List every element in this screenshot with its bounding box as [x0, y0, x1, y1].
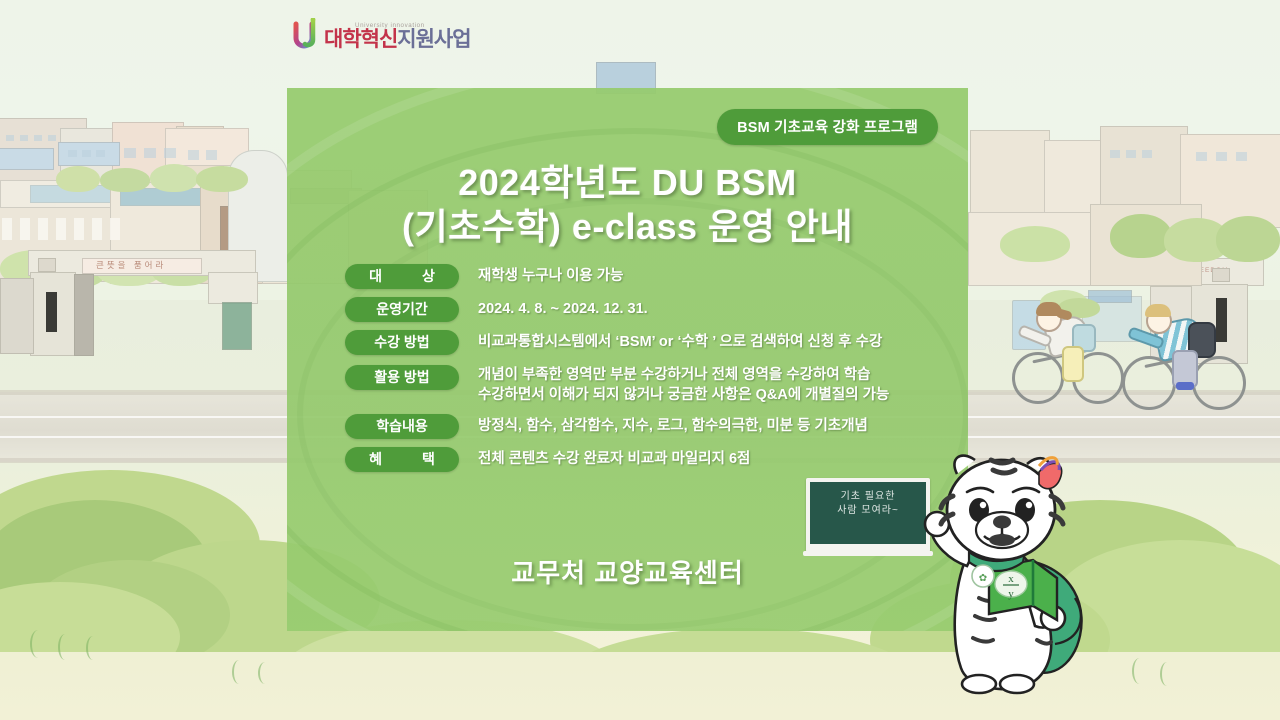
building-window [38, 218, 48, 240]
background-building [0, 148, 54, 170]
info-row-content: 학습내용 방정식, 함수, 삼각함수, 지수, 로그, 함수의극한, 미분 등 … [345, 414, 955, 439]
building-window [1196, 152, 1207, 161]
building-window [206, 150, 217, 160]
info-value-line: 수강하면서 이해가 되지 않거나 궁금한 사항은 Q&A에 개별질의 가능 [478, 385, 955, 405]
svg-text:✿: ✿ [979, 573, 987, 584]
bicycle-wheel [1192, 356, 1246, 410]
info-label-usage: 활용 방법 [345, 365, 459, 390]
cyclist-hair [1145, 304, 1171, 317]
building-window [1236, 152, 1247, 161]
building-window [92, 218, 102, 240]
cyclist-male [1122, 300, 1252, 412]
info-value-line: 전체 콘텐츠 수강 완료자 비교과 마일리지 6점 [478, 449, 955, 469]
building-window [68, 150, 77, 157]
building-window [188, 150, 199, 160]
building-window [110, 218, 120, 240]
building-window [144, 148, 156, 158]
tree [1000, 226, 1070, 262]
cyclist-legs [1062, 346, 1084, 382]
left-gate-text: 큰뜻을 품어라 [96, 259, 166, 271]
info-row-enrollment: 수강 방법 비교과통합시스템에서 ‘BSM’ or ‘수학 ’ 으로 검색하여 … [345, 330, 955, 355]
building-window [74, 218, 84, 240]
svg-text:y: y [1008, 588, 1014, 600]
info-value-line: 개념이 부족한 영역만 부분 수강하거나 전체 영역을 수강하여 학습 [478, 365, 955, 385]
gate-plaque [46, 292, 57, 332]
info-value-benefit: 전체 콘텐츠 수강 완료자 비교과 마일리지 6점 [478, 447, 955, 469]
gate-booth [222, 302, 252, 350]
grass-blade [30, 630, 46, 658]
info-label-content: 학습내용 [345, 414, 459, 439]
building-window [1142, 150, 1152, 158]
gate-pier [74, 274, 94, 356]
info-row-target: 대 상 재학생 누구나 이용 가능 [345, 264, 955, 289]
building-window [96, 150, 105, 157]
gate-lamp [38, 258, 56, 272]
svg-text:x: x [1008, 573, 1014, 585]
logo-korean-main: 대학혁신 [324, 28, 397, 51]
grass-blade [1160, 662, 1174, 686]
building-window [6, 135, 14, 141]
building-window [2, 218, 12, 240]
tree [196, 166, 248, 192]
tree [100, 168, 150, 192]
info-row-benefit: 혜 택 전체 콘텐츠 수강 완료자 비교과 마일리지 6점 [345, 447, 955, 472]
building-window [82, 150, 91, 157]
poster-info-table: 대 상 재학생 누구나 이용 가능 운영기간 2024. 4. 8. ~ 202… [345, 264, 955, 480]
info-label-target: 대 상 [345, 264, 459, 289]
logo-english-text: University innovation [355, 22, 425, 29]
tree [1216, 216, 1280, 262]
info-label-benefit: 혜 택 [345, 447, 459, 472]
building-window [124, 148, 136, 158]
gate-sidewall [208, 272, 258, 304]
building-window [20, 218, 30, 240]
grass-blade [258, 662, 272, 684]
info-value-enrollment: 비교과통합시스템에서 ‘BSM’ or ‘수학 ’ 으로 검색하여 신청 후 수… [478, 330, 955, 352]
cyclist-female [1010, 296, 1130, 406]
info-row-usage: 활용 방법 개념이 부족한 영역만 부분 수강하거나 전체 영역을 수강하여 학… [345, 363, 955, 405]
building-window [34, 135, 42, 141]
tree [56, 166, 100, 192]
tree [1110, 214, 1172, 258]
tree [150, 164, 198, 192]
poster-title-line2: (기초수학) e-class 운영 안내 [287, 198, 968, 250]
white-tiger-mascot: x y [905, 448, 1120, 700]
gate-lamp [1212, 268, 1230, 282]
building-window [164, 148, 176, 158]
poster-footer-organization: 교무처 교양교육센터 [287, 553, 968, 590]
building-window [20, 135, 28, 141]
info-value-usage: 개념이 부족한 영역만 부분 수강하거나 전체 영역을 수강하여 학습 수강하면… [478, 363, 955, 405]
building-window [1110, 150, 1120, 158]
building-window [1126, 150, 1136, 158]
info-value-period: 2024. 4. 8. ~ 2024. 12. 31. [478, 297, 955, 319]
info-value-line: 재학생 누구나 이용 가능 [478, 266, 955, 286]
uj-monogram-icon [293, 18, 319, 52]
info-value-target: 재학생 누구나 이용 가능 [478, 264, 955, 286]
poster-canvas: 큰뜻을 품어라 사랑 빛 자유 LOVE LIGHT FREEDOM [0, 0, 1280, 720]
info-value-line: 2024. 4. 8. ~ 2024. 12. 31. [478, 299, 955, 319]
building-window [48, 135, 56, 141]
gate-wall [0, 278, 34, 354]
university-innovation-logo: University innovation 대학혁신지원사업 [293, 16, 471, 54]
logo-korean-sub: 지원사업 [397, 28, 470, 51]
building-window [1216, 152, 1227, 161]
info-value-line: 비교과통합시스템에서 ‘BSM’ or ‘수학 ’ 으로 검색하여 신청 후 수… [478, 332, 955, 352]
info-row-period: 운영기간 2024. 4. 8. ~ 2024. 12. 31. [345, 297, 955, 322]
background-building [970, 130, 1050, 222]
info-value-content: 방정식, 함수, 삼각함수, 지수, 로그, 함수의극한, 미분 등 기초개념 [478, 414, 955, 436]
info-label-enrollment: 수강 방법 [345, 330, 459, 355]
info-label-period: 운영기간 [345, 297, 459, 322]
info-value-line: 방정식, 함수, 삼각함수, 지수, 로그, 함수의극한, 미분 등 기초개념 [478, 416, 955, 436]
program-badge: BSM 기초교육 강화 프로그램 [717, 109, 938, 145]
grass-blade [86, 636, 100, 660]
grass-blade [232, 660, 246, 684]
cyclist-shoe [1176, 382, 1194, 390]
building-window [56, 218, 66, 240]
grass-blade [1132, 658, 1147, 684]
grass-blade [58, 634, 72, 660]
